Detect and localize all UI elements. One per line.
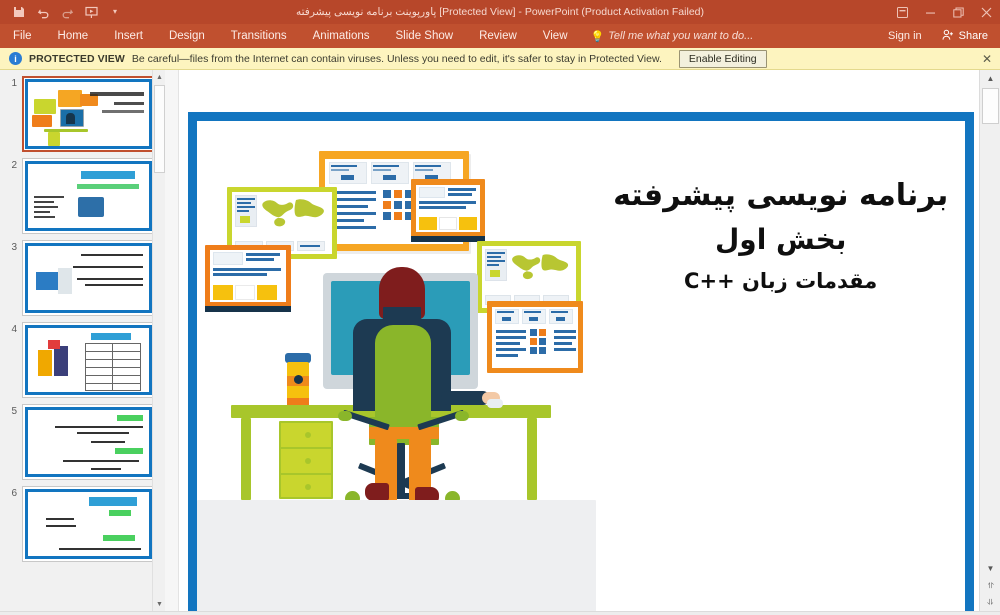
slide-editing-area[interactable]: برنامه نویسی پیشرفته بخش اول مقدمات زبان… (179, 70, 979, 611)
close-icon[interactable]: ✕ (982, 52, 992, 66)
thumbnail-canvas (25, 161, 152, 231)
tell-me-search[interactable]: 💡 Tell me what you want to do... (581, 30, 754, 43)
tell-me-placeholder: Tell me what you want to do... (608, 30, 753, 42)
slide-number: 6 (4, 486, 17, 499)
list-item[interactable]: 6 (0, 480, 165, 562)
mini-line (59, 548, 141, 550)
art-desk-leg (527, 418, 537, 500)
slide-number: 2 (4, 158, 17, 171)
mini-heading (91, 333, 131, 340)
thumbnail-canvas (25, 489, 152, 559)
slide-number: 5 (4, 404, 17, 417)
art-floor (197, 500, 596, 615)
protected-view-label: PROTECTED VIEW (29, 53, 125, 65)
share-person-icon (942, 29, 954, 44)
mini-person (66, 113, 75, 124)
mini-line (34, 216, 55, 218)
art-desk-leg (241, 418, 251, 500)
previous-slide-icon[interactable]: ⥣ (980, 577, 1000, 594)
scrollbar-bottom-group: ▼ ⥣ ⥥ (980, 560, 1000, 611)
mini-line (34, 201, 54, 203)
thumbnail-canvas (25, 79, 152, 149)
mini-line (34, 211, 50, 213)
slide-canvas: برنامه نویسی پیشرفته بخش اول مقدمات زبان… (197, 121, 965, 615)
thumbnail-slide-2[interactable] (22, 158, 155, 234)
mini-card (58, 90, 82, 107)
mini-line (63, 460, 139, 462)
protected-view-bar: i PROTECTED VIEW Be careful—files from t… (0, 48, 1000, 70)
tab-view[interactable]: View (530, 24, 581, 48)
mini-line (91, 441, 125, 443)
mini-person (38, 350, 52, 376)
mini-table-line (85, 351, 141, 352)
pane-divider[interactable] (165, 70, 179, 611)
tab-home[interactable]: Home (45, 24, 102, 48)
list-item[interactable]: 4 (0, 316, 165, 398)
redo-icon[interactable] (56, 2, 78, 22)
list-item[interactable]: 3 (0, 234, 165, 316)
mini-graphic (48, 340, 60, 349)
mini-drawers (48, 132, 60, 146)
mini-line (55, 426, 143, 428)
ribbon-tab-bar: File Home Insert Design Transitions Anim… (0, 24, 1000, 48)
slide-subtitle-2: مقدمات زبان ++C (684, 269, 877, 293)
tab-review[interactable]: Review (466, 24, 530, 48)
powerpoint-window: ▾ پاورپوینت برنامه نویسی پیشرفته [Protec… (0, 0, 1000, 615)
thumbnail-slide-1[interactable] (22, 76, 155, 152)
sign-in-button[interactable]: Sign in (876, 30, 934, 42)
lightbulb-icon: 💡 (591, 30, 605, 43)
slide-number: 3 (4, 240, 17, 253)
mini-line (73, 266, 143, 268)
customize-qat-icon[interactable]: ▾ (104, 2, 126, 22)
mini-badge (115, 448, 143, 454)
slide-subtitle: بخش اول (715, 218, 846, 263)
mini-subtitle2 (102, 110, 144, 113)
title-bar: ▾ پاورپوینت برنامه نویسی پیشرفته [Protec… (0, 0, 1000, 24)
start-slideshow-icon[interactable] (80, 2, 102, 22)
slide-number: 1 (4, 76, 17, 89)
mini-table-line (85, 383, 141, 384)
mini-line (85, 284, 143, 286)
undo-icon[interactable] (32, 2, 54, 22)
current-slide[interactable]: برنامه نویسی پیشرفته بخش اول مقدمات زبان… (188, 112, 974, 615)
minimize-icon[interactable] (916, 0, 944, 24)
mini-line (81, 254, 143, 256)
share-label: Share (959, 30, 988, 42)
mini-badge (103, 535, 135, 541)
info-icon: i (9, 52, 22, 65)
mini-heading (81, 171, 135, 179)
list-item[interactable]: 5 (0, 398, 165, 480)
slide-title: برنامه نویسی پیشرفته (613, 173, 948, 218)
scroll-up-icon[interactable]: ▲ (980, 70, 1000, 87)
mini-card (32, 115, 52, 127)
mini-line (46, 525, 76, 527)
thumbnail-canvas (25, 407, 152, 477)
tab-design[interactable]: Design (156, 24, 218, 48)
mini-line (46, 518, 74, 520)
window-title: پاورپوینت برنامه نویسی پیشرفته [Protecte… (0, 6, 1000, 18)
art-window (411, 179, 485, 237)
tab-transitions[interactable]: Transitions (218, 24, 300, 48)
thumbnail-canvas (25, 243, 152, 313)
art-window (487, 301, 583, 373)
mini-person (54, 346, 68, 376)
art-chair-knob (455, 411, 469, 421)
thumbnail-slide-4[interactable] (22, 322, 155, 398)
art-chair-post (397, 443, 405, 497)
mini-line (77, 432, 129, 434)
enable-editing-button[interactable]: Enable Editing (679, 50, 767, 68)
art-chair-knob (338, 411, 352, 421)
scroll-up-icon[interactable]: ▲ (153, 70, 165, 84)
scrollbar-thumb[interactable] (982, 88, 999, 124)
mini-heading (89, 497, 137, 506)
mini-table-line (85, 375, 141, 376)
mini-line (77, 278, 143, 280)
list-item[interactable]: 1 (0, 70, 165, 152)
ribbon-right-group: Sign in Share (876, 24, 1000, 48)
art-mouse (487, 399, 503, 408)
workspace: 1 (0, 70, 1000, 611)
protected-view-message: Be careful—files from the Internet can c… (132, 53, 662, 65)
art-shoe (365, 483, 389, 501)
mini-graphic (58, 268, 72, 294)
slide-illustration (197, 121, 596, 615)
window-controls (888, 0, 1000, 24)
tab-file[interactable]: File (0, 24, 45, 48)
mini-title (90, 92, 144, 96)
mini-badge (117, 415, 143, 421)
tab-insert[interactable]: Insert (101, 24, 156, 48)
save-icon[interactable] (8, 2, 30, 22)
art-chair-band (369, 427, 439, 439)
slide-text-block[interactable]: برنامه نویسی پیشرفته بخش اول مقدمات زبان… (596, 121, 965, 615)
art-window (205, 245, 291, 307)
art-coffee-cup (287, 362, 309, 406)
share-button[interactable]: Share (934, 24, 1000, 48)
slide-number: 4 (4, 322, 17, 335)
thumbnail-scrollbar[interactable]: ▲ ▼ (152, 70, 165, 611)
slide-area-scrollbar[interactable]: ▲ ▼ ⥣ ⥥ (979, 70, 1000, 611)
next-slide-icon[interactable]: ⥥ (980, 594, 1000, 611)
thumbnail-canvas (25, 325, 152, 395)
mini-line (91, 468, 121, 470)
scroll-down-icon[interactable]: ▼ (153, 597, 165, 611)
mini-table-line (85, 359, 141, 360)
mini-subtitle (114, 102, 144, 105)
mini-line (34, 196, 64, 198)
mini-badge (109, 510, 131, 516)
mini-table-line (85, 367, 141, 368)
quick-access-toolbar: ▾ (0, 2, 126, 22)
close-icon[interactable] (972, 0, 1000, 24)
slide-thumbnail-pane[interactable]: 1 (0, 70, 165, 611)
mini-card (34, 99, 56, 114)
scrollbar-thumb[interactable] (154, 85, 165, 173)
tab-slide-show[interactable]: Slide Show (383, 24, 467, 48)
thumbnail-slide-6[interactable] (22, 486, 155, 562)
restore-icon[interactable] (944, 0, 972, 24)
mini-bar (77, 184, 139, 189)
art-person-shirt (375, 325, 431, 425)
status-bar (0, 611, 1000, 615)
list-item[interactable]: 2 (0, 152, 165, 234)
ribbon-display-options-icon[interactable] (888, 0, 916, 24)
scroll-down-icon[interactable]: ▼ (980, 560, 1000, 577)
art-drawers (279, 421, 333, 499)
mini-graphic (78, 197, 104, 217)
thumbnail-slide-3[interactable] (22, 240, 155, 316)
thumbnail-slide-5[interactable] (22, 404, 155, 480)
tab-animations[interactable]: Animations (300, 24, 383, 48)
mini-line (34, 206, 58, 208)
mini-table-line (112, 343, 113, 391)
